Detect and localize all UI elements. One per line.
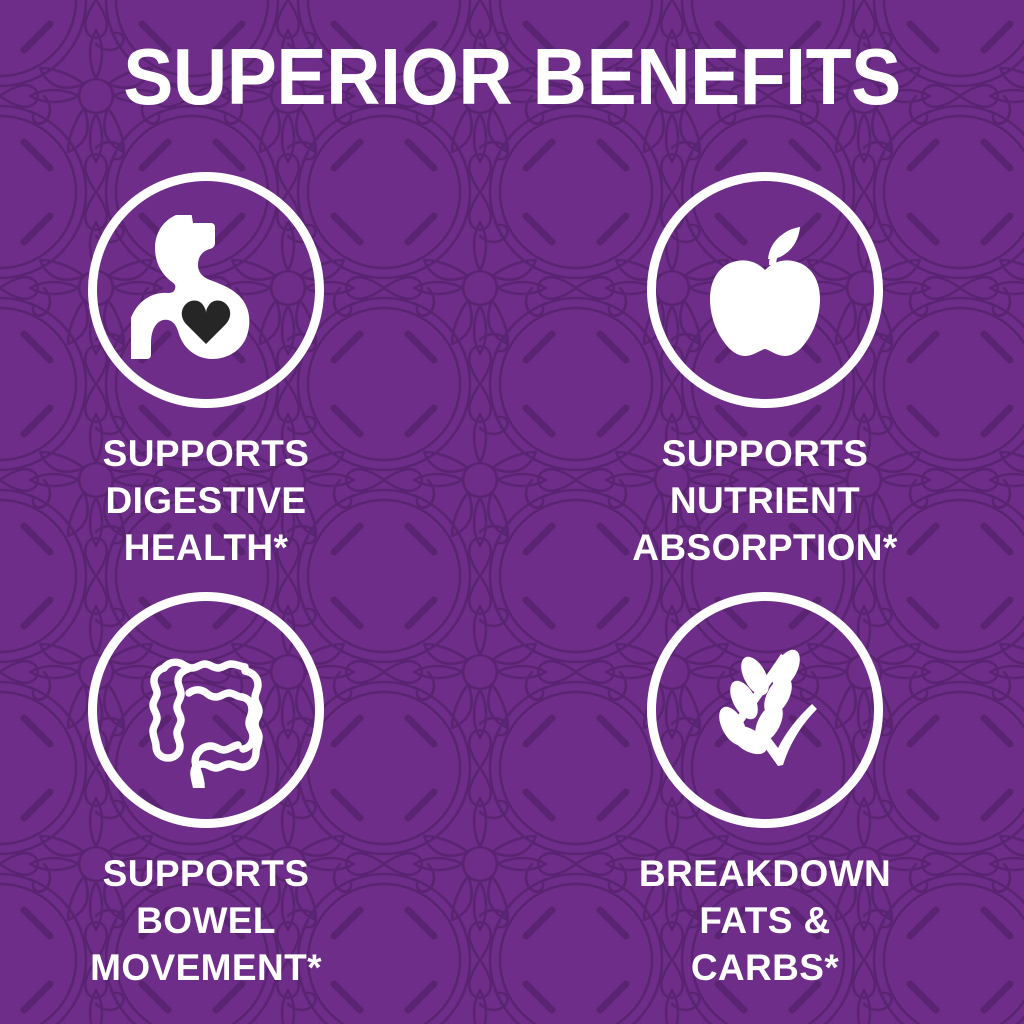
benefit-item-digestive-health: SUPPORTS DIGESTIVE HEALTH* [0, 160, 512, 570]
colon-intestine-icon [128, 632, 284, 788]
benefit-caption: SUPPORTS DIGESTIVE HEALTH* [103, 430, 310, 571]
icon-circle-breakdown-fats-carbs [647, 592, 883, 828]
benefit-caption: BREAKDOWN FATS & CARBS* [639, 850, 891, 991]
benefits-grid: SUPPORTS DIGESTIVE HEALTH* SUPPORTS NUTR… [0, 160, 1024, 1024]
benefit-item-nutrient-absorption: SUPPORTS NUTRIENT ABSORPTION* [512, 160, 1024, 570]
icon-circle-digestive-health [88, 172, 324, 408]
icon-circle-bowel-movement [88, 592, 324, 828]
apple-icon [690, 215, 840, 365]
wheat-checkmark-icon [689, 634, 841, 786]
benefit-caption: SUPPORTS BOWEL MOVEMENT* [90, 850, 322, 991]
benefit-caption: SUPPORTS NUTRIENT ABSORPTION* [632, 430, 897, 571]
benefit-item-breakdown-fats-carbs: BREAKDOWN FATS & CARBS* [512, 570, 1024, 980]
icon-circle-nutrient-absorption [647, 172, 883, 408]
stomach-heart-icon [131, 215, 281, 365]
benefit-item-bowel-movement: SUPPORTS BOWEL MOVEMENT* [0, 570, 512, 980]
page-title: SUPERIOR BENEFITS [31, 34, 994, 120]
superior-benefits-poster: SUPERIOR BENEFITS SUPPORTS DIGESTIVE HEA… [0, 0, 1024, 1024]
